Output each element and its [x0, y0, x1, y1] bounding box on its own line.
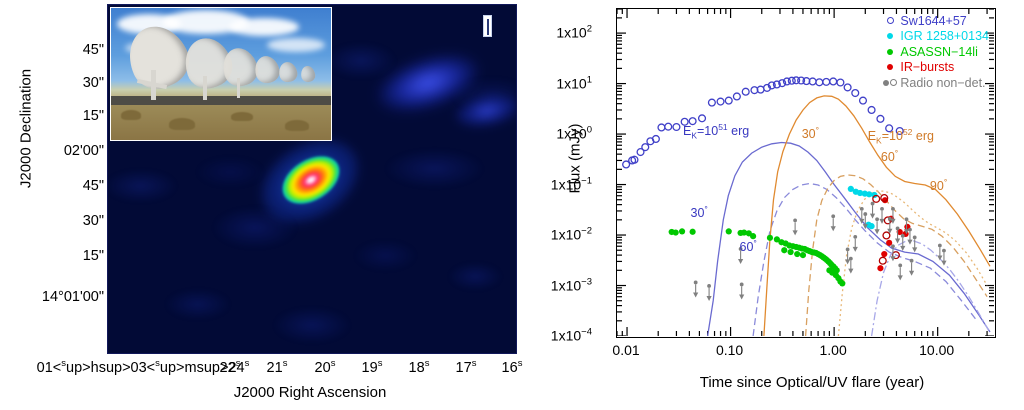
legend-label: Radio non−det. — [900, 76, 985, 90]
ra-tick-label: 21s — [267, 358, 288, 376]
ra-tick-label: 20s — [315, 358, 336, 376]
telescope-track — [111, 96, 331, 105]
dec-tick-label: 30" — [83, 213, 104, 229]
x-tick-label: 1.00 — [819, 342, 846, 358]
desert-scrub — [169, 118, 195, 130]
legend-label: Sw1644+57 — [900, 14, 966, 28]
desert-scrub — [231, 112, 253, 121]
legend-item: ASASSN−14li — [883, 44, 989, 60]
curve-annotation: 30° — [691, 204, 708, 220]
legend-item: IR−bursts — [883, 60, 989, 76]
dish-mast — [237, 78, 240, 98]
x-tick-label: 0.01 — [612, 342, 639, 358]
legend-label: IR−bursts — [900, 60, 954, 74]
legend-item: Radio non−det. — [883, 75, 989, 91]
ra-tick-label: 17s — [456, 358, 477, 376]
model-curve — [872, 241, 989, 336]
legend-label: ASASSN−14li — [900, 45, 977, 59]
plot-area: Sw1644+57IGR 1258+0134ASASSN−14liIR−burs… — [616, 8, 996, 338]
radio-dish — [252, 53, 282, 85]
curve-annotation: EK=1052 erg — [868, 127, 934, 146]
ra-tick-label: 18s — [409, 358, 430, 376]
radio-dish — [277, 60, 299, 83]
legend-marker-icon — [883, 17, 897, 24]
dec-tick-label: 14°01'00" — [42, 289, 104, 305]
curve-annotation: 60° — [740, 238, 757, 254]
data-series — [693, 202, 946, 301]
legend-marker-icon — [883, 79, 897, 86]
x-tick-label: 10.00 — [919, 342, 954, 358]
dec-tick-label: 02'00" — [64, 143, 104, 159]
desert-scrub — [121, 110, 141, 120]
beam-scale-marker — [483, 15, 492, 37]
legend-marker-icon — [883, 33, 897, 39]
y-tick-label: 1x10−2 — [551, 226, 592, 243]
y-tick-label: 1x100 — [556, 125, 592, 142]
y-tick-label: 1x10−1 — [551, 175, 592, 192]
data-series — [623, 77, 903, 168]
dec-tick-label: 15" — [83, 248, 104, 264]
time-axis-label: Time since Optical/UV flare (year) — [600, 374, 1024, 391]
curve-annotation: EK=1051 erg — [683, 122, 749, 141]
cloud-shape — [267, 38, 325, 52]
legend-marker-icon — [883, 49, 897, 55]
astronomy-figure: J2000 Declination 45"30"15"02'00"45"30"1… — [0, 0, 1024, 410]
model-curve — [838, 191, 987, 336]
curve-annotation: 30° — [802, 125, 819, 141]
right-ascension-tick-labels: 01<sup>hsup>03<sup>msup>24s22s21s20s19s1… — [100, 358, 520, 380]
x-tick-label: 0.10 — [716, 342, 743, 358]
y-tick-label: 1x102 — [556, 24, 592, 41]
vla-telescope-inset-photo — [110, 7, 332, 141]
declination-tick-labels: 45"30"15"02'00"45"30"15"14°01'00" — [0, 0, 104, 410]
dec-tick-label: 45" — [83, 178, 104, 194]
right-ascension-axis-label: J2000 Right Ascension — [100, 384, 520, 401]
dec-tick-label: 15" — [83, 108, 104, 124]
dec-tick-label: 30" — [83, 75, 104, 91]
dish-mast — [203, 76, 207, 100]
data-series — [669, 228, 846, 286]
curve-annotation: 60° — [881, 148, 898, 164]
radio-map-panel: J2000 Declination 45"30"15"02'00"45"30"1… — [0, 0, 520, 410]
ra-tick-label: 19s — [362, 358, 383, 376]
legend-item: IGR 1258+0134 — [883, 29, 989, 45]
y-tick-label: 1x10−3 — [551, 276, 592, 293]
ra-tick-label: 01<sup>hsup>03<sup>msup>24s — [37, 358, 250, 376]
y-tick-label: 1x101 — [556, 74, 592, 91]
curve-annotation: 90° — [930, 177, 947, 193]
legend-item: Sw1644+57 — [883, 13, 989, 29]
dec-tick-label: 45" — [83, 42, 104, 58]
ra-tick-label: 22s — [220, 358, 241, 376]
y-tick-label: 1x10−4 — [551, 327, 592, 344]
desert-scrub — [285, 120, 309, 131]
legend-label: IGR 1258+0134 — [900, 29, 989, 43]
radio-continuum-image — [107, 4, 517, 354]
flux-axis-label: Flux (mJy) — [567, 94, 584, 224]
legend-marker-icon — [883, 64, 897, 70]
flux-lightcurve-panel: Flux (mJy) Sw1644+57IGR 1258+0134ASASSN−… — [520, 0, 1024, 410]
chart-legend: Sw1644+57IGR 1258+0134ASASSN−14liIR−burs… — [883, 13, 989, 91]
cloud-shape — [229, 18, 299, 36]
radio-dish — [300, 65, 317, 83]
